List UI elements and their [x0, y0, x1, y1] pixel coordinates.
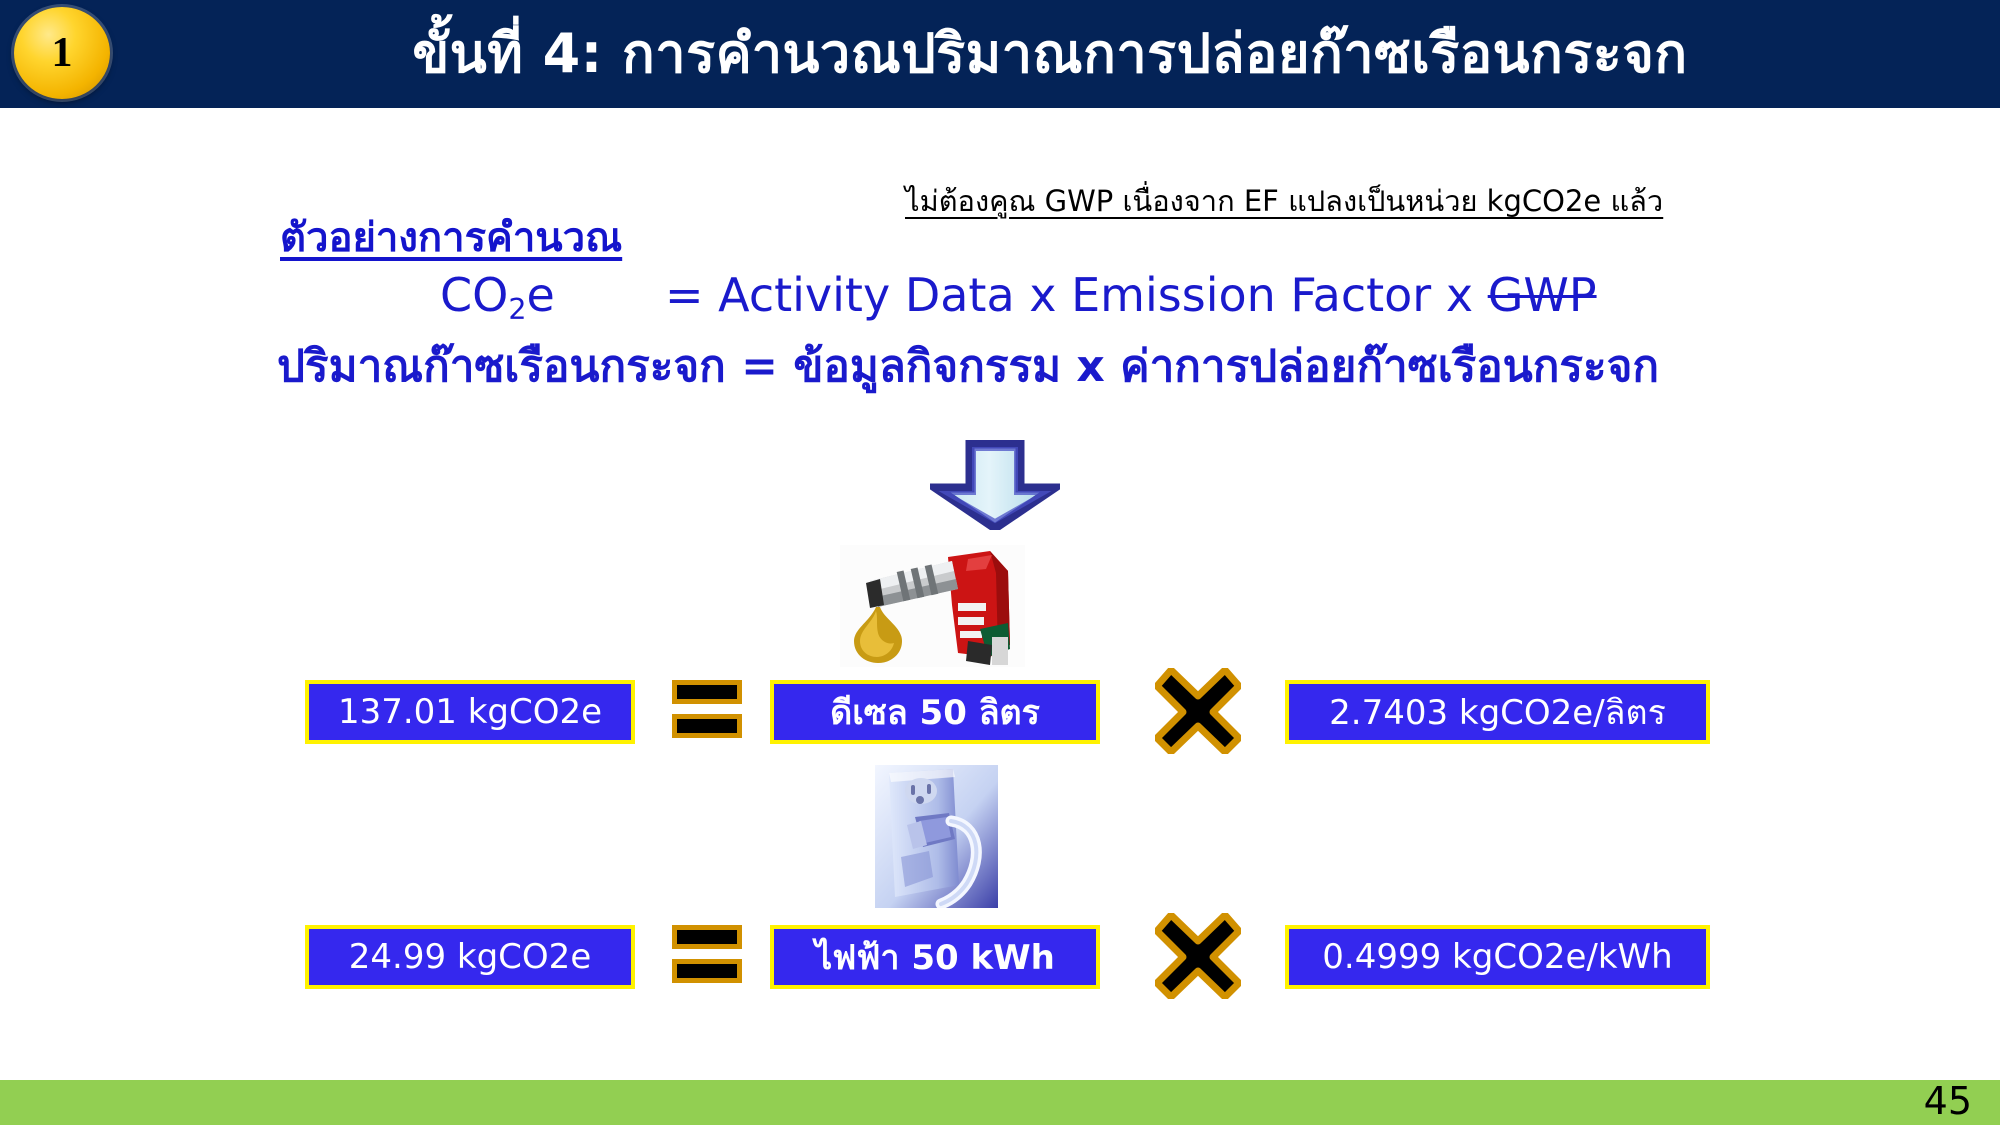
example-heading: ตัวอย่างการคำนวณ: [280, 205, 622, 269]
result-box-fuel: 137.01 kgCO2e: [305, 680, 635, 744]
fuel-pump-icon: [840, 545, 1025, 667]
formula-rhs: = Activity Data x Emission Factor x: [665, 268, 1488, 322]
co2e-prefix: CO: [440, 268, 508, 322]
equation-row-fuel: 137.01 kgCO2e ดีเซล 50 ลิตร 2.7403 kgCO2…: [0, 680, 2000, 760]
result-box-electricity: 24.99 kgCO2e: [305, 925, 635, 989]
gwp-struck-term: GWP: [1488, 268, 1597, 322]
gwp-note: ไม่ต้องคูณ GWP เนื่องจาก EF แปลงเป็นหน่ว…: [905, 178, 1663, 224]
factor-box-fuel: 2.7403 kgCO2e/ลิตร: [1285, 680, 1710, 744]
equals-bar-top: [672, 680, 742, 704]
page-title: ขั้นที่ 4: การคำนวณปริมาณการปล่อยก๊าซเรื…: [200, 0, 1900, 108]
footer-bar: [0, 1080, 2000, 1125]
equals-bar-bottom: [672, 959, 742, 983]
multiply-sign-fuel: [1155, 668, 1241, 754]
formula-lhs: CO2e: [440, 272, 665, 325]
equation-row-electricity: 24.99 kgCO2e ไฟฟ้า 50 kWh 0.4999 kgCO2e/…: [0, 925, 2000, 1005]
formula-english: CO2e= Activity Data x Emission Factor x …: [440, 272, 1597, 325]
co2e-suffix: e: [526, 268, 554, 322]
formula-thai: ปริมาณก๊าซเรือนกระจก = ข้อมูลกิจกรรม x ค…: [277, 345, 1659, 389]
page-number: 45: [1924, 1082, 1972, 1120]
equals-sign-electricity: [672, 925, 742, 987]
down-arrow-icon: [930, 440, 1060, 530]
step-badge-number: 1: [52, 32, 73, 74]
slide-header: 1 ขั้นที่ 4: การคำนวณปริมาณการปล่อยก๊าซเ…: [0, 0, 2000, 108]
equals-bar-top: [672, 925, 742, 949]
activity-box-fuel: ดีเซล 50 ลิตร: [770, 680, 1100, 744]
factor-box-electricity: 0.4999 kgCO2e/kWh: [1285, 925, 1710, 989]
equals-sign-fuel: [672, 680, 742, 742]
step-badge: 1: [14, 7, 110, 99]
multiply-sign-electricity: [1155, 913, 1241, 999]
equals-bar-bottom: [672, 714, 742, 738]
co2e-subscript: 2: [508, 293, 526, 326]
activity-box-electricity: ไฟฟ้า 50 kWh: [770, 925, 1100, 989]
electric-plug-icon: [875, 765, 998, 908]
